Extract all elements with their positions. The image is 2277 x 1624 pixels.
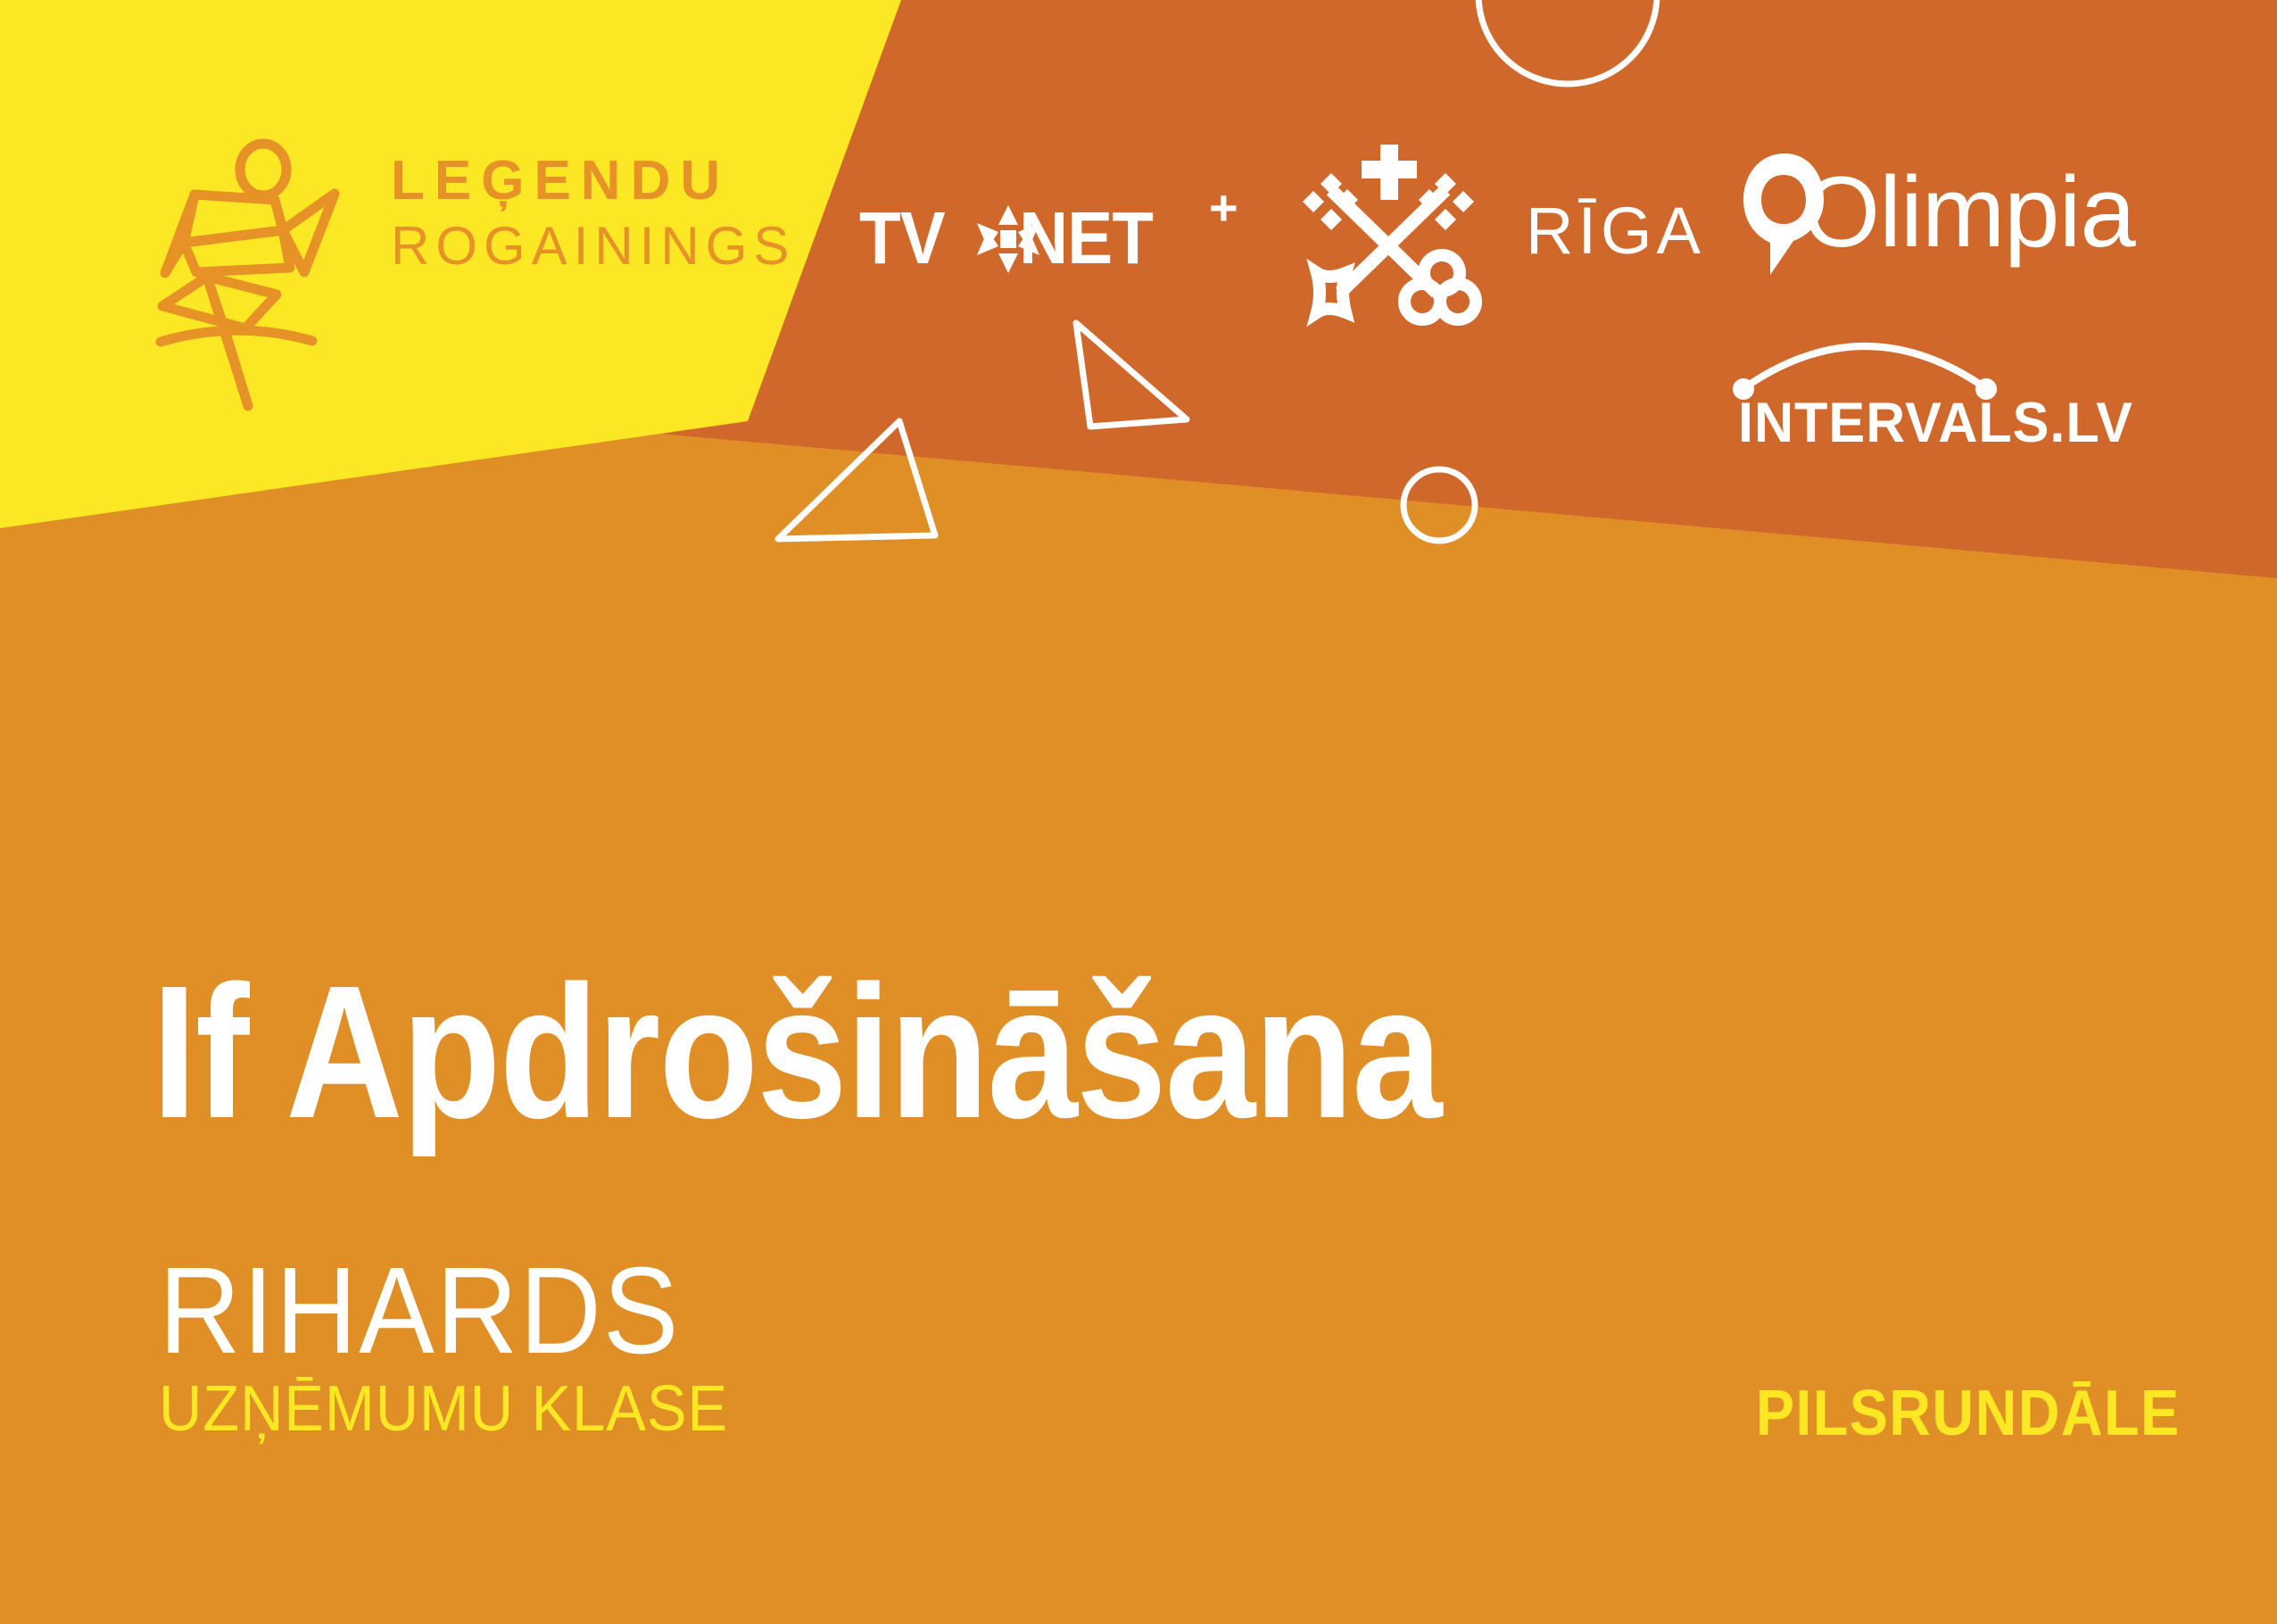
- runner-lower-arm: [184, 230, 290, 272]
- riga-logo-label: RĪGA: [1526, 198, 1705, 264]
- tvnet-logo-tv: TV: [859, 201, 945, 275]
- intervals-arc: [1745, 346, 1984, 387]
- participant-name: RIHARDS: [159, 1249, 680, 1372]
- legendu-line2: ROGAININGS: [391, 220, 795, 273]
- arc-with-dots-icon: [1731, 321, 1999, 402]
- riga-cross-horizontal: [1362, 161, 1417, 178]
- tvnet-logo-net: NET: [1019, 201, 1153, 275]
- legendu-rogainings-wordmark: LEĢENDU ROGAININGS: [391, 153, 795, 273]
- runner-leg: [207, 277, 248, 406]
- intervals-logo-label: INTERVALS.LV: [1738, 395, 2133, 452]
- event-location-label: PILSRUNDĀLE: [1756, 1381, 2181, 1446]
- participant-class-label: UZŅĒMUMU KLASE: [159, 1377, 728, 1441]
- riga-crossed-keys-icon: [1285, 141, 1492, 330]
- legendu-line1: LEĢENDU: [391, 153, 795, 209]
- key-bow-trefoil-right: [1440, 284, 1476, 319]
- olimpia-logo-label: Olimpia: [1802, 162, 2135, 262]
- tvnet-logo-plus: +: [1209, 183, 1238, 233]
- poster-canvas: LEĢENDU ROGAININGS TV NET +: [0, 0, 2277, 1624]
- page-title: If Apdrošināšana: [152, 962, 1917, 1141]
- runner-ground-line: [161, 330, 312, 342]
- key-bow-square: [1317, 273, 1345, 312]
- participant-title-block: If Apdrošināšana: [152, 962, 2204, 1141]
- runner-head: [240, 144, 286, 195]
